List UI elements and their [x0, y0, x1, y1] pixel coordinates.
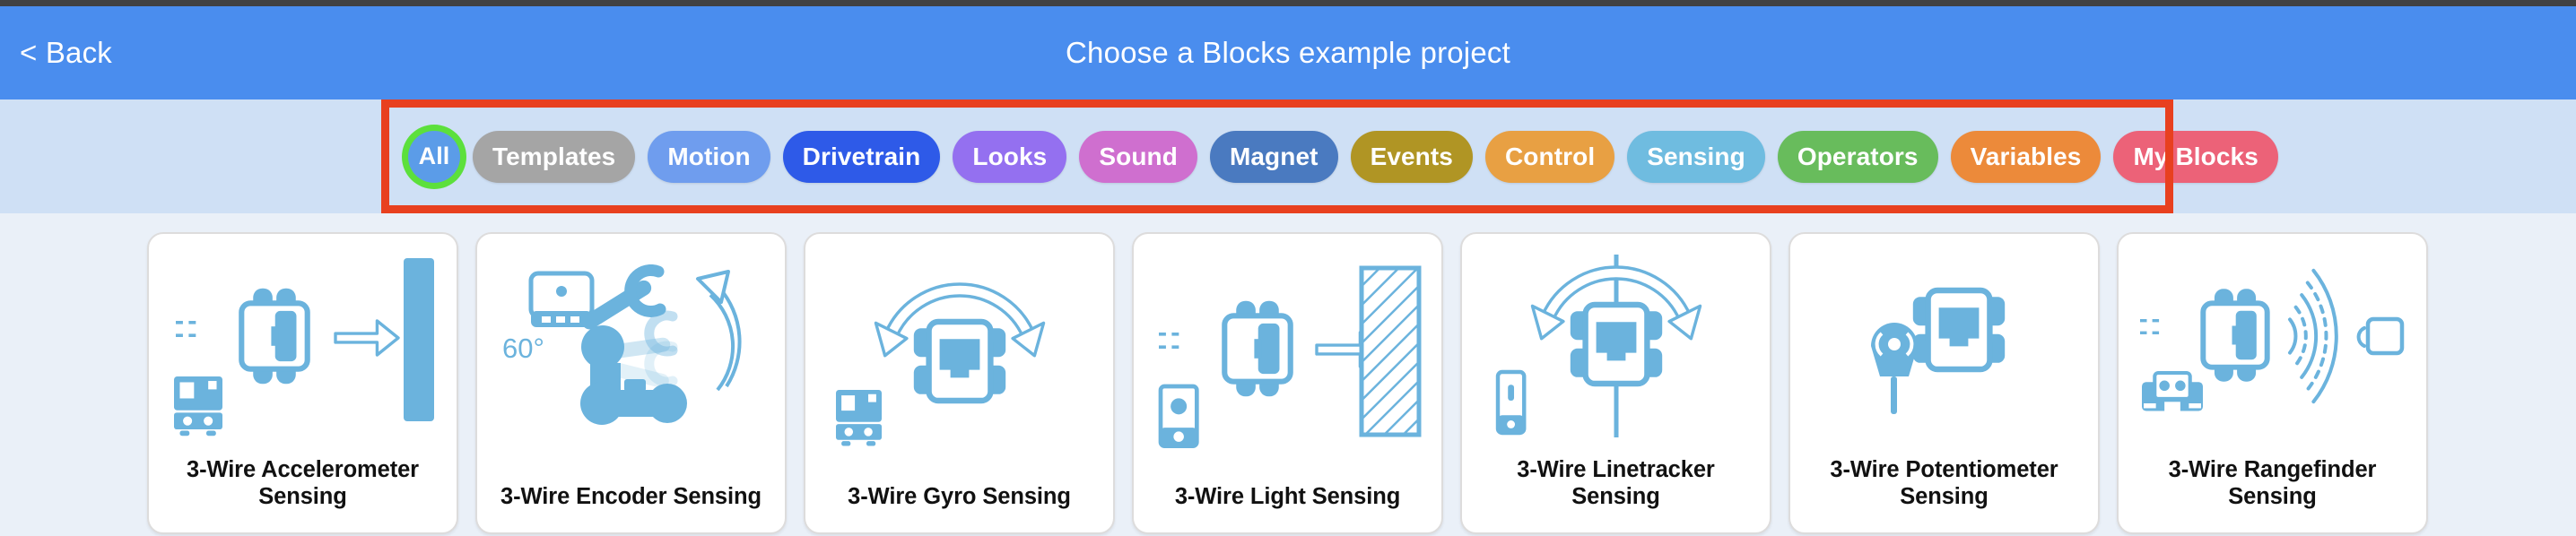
category-pill-label: Drivetrain	[803, 143, 921, 171]
category-pill-motion[interactable]: Motion	[648, 131, 770, 183]
category-pill-events[interactable]: Events	[1351, 131, 1473, 183]
category-pill-sensing[interactable]: Sensing	[1627, 131, 1765, 183]
category-pill-label: Control	[1505, 143, 1595, 171]
category-pill-looks[interactable]: Looks	[953, 131, 1066, 183]
example-project-chooser: < Back Choose a Blocks example project A…	[0, 0, 2576, 536]
category-pill-variables[interactable]: Variables	[1951, 131, 2102, 183]
robot-turn-arc-icon	[805, 234, 1113, 484]
category-pill-control[interactable]: Control	[1485, 131, 1614, 183]
project-grid-area: 3-Wire Accelerometer Sensing60°3-Wire En…	[0, 213, 2576, 536]
project-card[interactable]: 3-Wire Light Sensing	[1132, 232, 1443, 534]
category-pill-drivetrain[interactable]: Drivetrain	[783, 131, 941, 183]
category-pill-label: My Blocks	[2133, 143, 2258, 171]
window-top-strip	[0, 0, 2576, 6]
project-card-title: 3-Wire Rangefinder Sensing	[2119, 457, 2426, 532]
robot-arrow-wall-icon	[149, 234, 457, 457]
category-pill-label: Sensing	[1647, 143, 1745, 171]
robot-arrow-hatched-wall-icon	[1134, 234, 1441, 484]
project-card-title: 3-Wire Accelerometer Sensing	[149, 457, 457, 532]
project-card-title: 3-Wire Gyro Sensing	[805, 484, 1113, 532]
project-card[interactable]: 3-Wire Rangefinder Sensing	[2117, 232, 2428, 534]
category-pill-label: Looks	[972, 143, 1047, 171]
robot-line-follow-icon	[1462, 234, 1770, 457]
project-card-row: 3-Wire Accelerometer Sensing60°3-Wire En…	[0, 232, 2576, 534]
project-card-title: 3-Wire Potentiometer Sensing	[1790, 457, 2098, 532]
category-pill-label: All	[419, 143, 450, 170]
category-pill-operators[interactable]: Operators	[1778, 131, 1938, 183]
project-card[interactable]: 3-Wire Accelerometer Sensing	[147, 232, 458, 534]
category-pill-label: Motion	[667, 143, 750, 171]
category-pill-label: Sound	[1099, 143, 1178, 171]
rotating-arm-encoder-icon: 60°	[477, 234, 785, 484]
project-card-title: 3-Wire Encoder Sensing	[477, 484, 785, 532]
category-pill-my-blocks[interactable]: My Blocks	[2113, 131, 2277, 183]
project-card-title: 3-Wire Light Sensing	[1134, 484, 1441, 532]
back-button[interactable]: < Back	[20, 36, 112, 70]
project-card[interactable]: 60°3-Wire Encoder Sensing	[475, 232, 787, 534]
category-pill-label: Variables	[1971, 143, 2082, 171]
category-pill-label: Templates	[492, 143, 615, 171]
robot-potentiometer-icon	[1790, 234, 2098, 457]
category-pill-label: Operators	[1797, 143, 1919, 171]
project-card[interactable]: 3-Wire Linetracker Sensing	[1460, 232, 1771, 534]
category-pill-label: Events	[1371, 143, 1453, 171]
category-pill-templates[interactable]: Templates	[473, 131, 635, 183]
category-filter-bar: AllTemplatesMotionDrivetrainLooksSoundMa…	[0, 99, 2576, 213]
category-pill-list: AllTemplatesMotionDrivetrainLooksSoundMa…	[408, 99, 2278, 213]
page-header: < Back Choose a Blocks example project	[0, 6, 2576, 99]
project-card[interactable]: 3-Wire Potentiometer Sensing	[1788, 232, 2100, 534]
category-pill-sound[interactable]: Sound	[1079, 131, 1197, 183]
project-card-title: 3-Wire Linetracker Sensing	[1462, 457, 1770, 532]
project-card[interactable]: 3-Wire Gyro Sensing	[804, 232, 1115, 534]
category-pill-all[interactable]: All	[408, 131, 460, 183]
svg-text:60°: 60°	[502, 333, 544, 364]
robot-sonar-waves-icon	[2119, 234, 2426, 457]
category-pill-magnet[interactable]: Magnet	[1210, 131, 1338, 183]
category-pill-label: Magnet	[1230, 143, 1318, 171]
page-title: Choose a Blocks example project	[0, 36, 2576, 70]
